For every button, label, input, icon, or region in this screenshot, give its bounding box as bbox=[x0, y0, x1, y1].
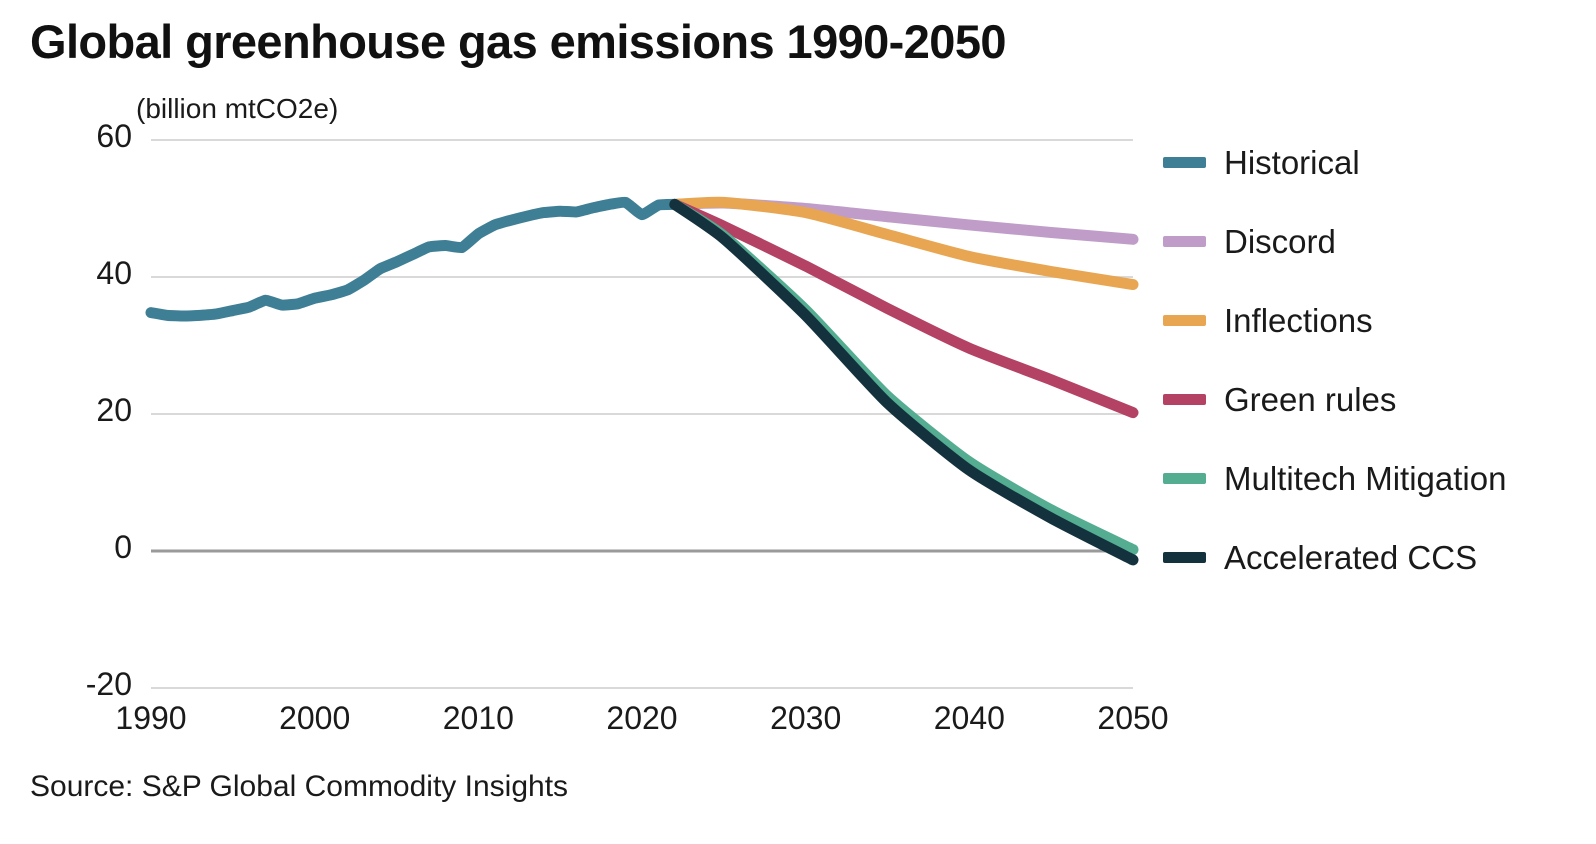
legend-swatch-icon bbox=[1163, 236, 1206, 247]
x-axis-tick-2020: 2020 bbox=[582, 700, 702, 737]
source-note: Source: S&P Global Commodity Insights bbox=[30, 770, 568, 804]
y-axis-tick-40: 40 bbox=[42, 255, 132, 292]
x-axis-tick-1990: 1990 bbox=[91, 700, 211, 737]
y-axis-tick-0: 0 bbox=[42, 529, 132, 566]
y-axis-tick-neg20: -20 bbox=[42, 666, 132, 703]
legend-item-multitech-mitigation[interactable]: Multitech Mitigation bbox=[1163, 456, 1506, 500]
y-axis-tick-60: 60 bbox=[42, 118, 132, 155]
legend-label: Inflections bbox=[1224, 304, 1373, 337]
legend-item-accelerated-ccs[interactable]: Accelerated CCS bbox=[1163, 535, 1477, 579]
legend-swatch-icon bbox=[1163, 473, 1206, 484]
x-axis-tick-2040: 2040 bbox=[909, 700, 1029, 737]
series-line-historical bbox=[151, 202, 675, 316]
legend-item-green-rules[interactable]: Green rules bbox=[1163, 377, 1396, 421]
x-axis-tick-2030: 2030 bbox=[746, 700, 866, 737]
y-axis-tick-20: 20 bbox=[42, 392, 132, 429]
x-axis-tick-2010: 2010 bbox=[418, 700, 538, 737]
legend-item-historical[interactable]: Historical bbox=[1163, 140, 1360, 184]
legend-swatch-icon bbox=[1163, 315, 1206, 326]
series-lines bbox=[151, 202, 1133, 560]
legend-swatch-icon bbox=[1163, 157, 1206, 168]
legend-label: Discord bbox=[1224, 225, 1336, 258]
legend-swatch-icon bbox=[1163, 552, 1206, 563]
chart-page: Global greenhouse gas emissions 1990-205… bbox=[0, 0, 1596, 844]
x-axis-tick-2000: 2000 bbox=[255, 700, 375, 737]
legend-label: Accelerated CCS bbox=[1224, 541, 1477, 574]
x-axis-tick-2050: 2050 bbox=[1073, 700, 1193, 737]
legend-label: Historical bbox=[1224, 146, 1360, 179]
legend-item-discord[interactable]: Discord bbox=[1163, 219, 1336, 263]
legend-item-inflections[interactable]: Inflections bbox=[1163, 298, 1373, 342]
legend-swatch-icon bbox=[1163, 394, 1206, 405]
legend-label: Green rules bbox=[1224, 383, 1396, 416]
legend-label: Multitech Mitigation bbox=[1224, 462, 1506, 495]
